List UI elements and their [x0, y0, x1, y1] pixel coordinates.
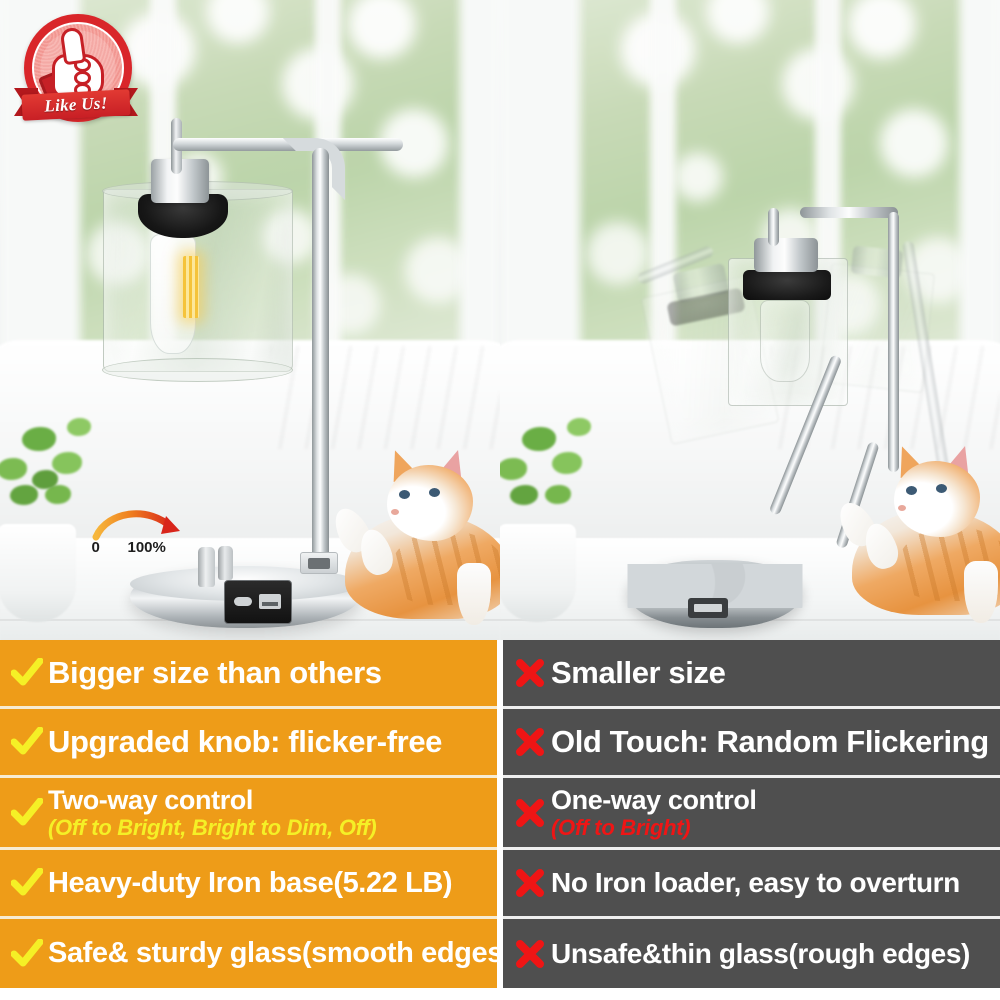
check-icon	[6, 939, 48, 969]
cons-text: Unsafe&thin glass(rough edges)	[551, 939, 1000, 968]
kitten-eye	[936, 484, 947, 493]
pros-main-text: Bigger size than others	[48, 655, 382, 690]
cross-icon	[509, 798, 551, 828]
pros-text: Two-way control (Off to Bright, Bright t…	[48, 786, 497, 838]
pros-row: Safe& sturdy glass(smooth edges)	[0, 919, 497, 988]
kitten	[345, 389, 500, 619]
pros-main-text: Upgraded knob: flicker-free	[48, 724, 442, 759]
dimmer-min-label: 0	[92, 539, 100, 556]
cons-row: Unsafe&thin glass(rough edges)	[503, 919, 1000, 988]
pros-text: Bigger size than others	[48, 657, 497, 690]
cons-sub-text: (Off to Bright)	[551, 816, 1000, 839]
cons-text: Old Touch: Random Flickering	[551, 726, 1000, 759]
pros-row: Heavy-duty Iron base(5.22 LB)	[0, 850, 497, 919]
cons-text: One-way control (Off to Bright)	[551, 786, 1000, 838]
pros-row: Upgraded knob: flicker-free	[0, 709, 497, 778]
kitten-eye	[429, 488, 440, 497]
cons-row: One-way control (Off to Bright)	[503, 778, 1000, 850]
pros-main-text: Heavy-duty Iron base(5.22 LB)	[48, 867, 452, 899]
lamp-arm-top	[800, 207, 898, 218]
kitten-head	[894, 461, 980, 537]
dimmer-knob-secondary[interactable]	[218, 546, 233, 580]
kitten-nose	[898, 505, 906, 511]
shade-stem	[768, 208, 779, 246]
usb-a-port-icon	[259, 594, 281, 609]
usb-c-port-icon	[234, 597, 252, 606]
cons-main-text: No Iron loader, easy to overturn	[551, 867, 960, 898]
pros-text: Heavy-duty Iron base(5.22 LB)	[48, 868, 497, 898]
check-icon	[6, 727, 48, 757]
check-icon	[6, 868, 48, 898]
kitten	[852, 385, 1000, 615]
cons-row: Old Touch: Random Flickering	[503, 709, 1000, 778]
pros-row: Bigger size than others	[0, 640, 497, 709]
pros-sub-text: (Off to Bright, Bright to Dim, Off)	[48, 816, 497, 839]
cons-column: Smaller size Old Touch: Random Flickerin…	[503, 640, 1000, 988]
pros-text: Safe& sturdy glass(smooth edges)	[48, 938, 497, 968]
cons-main-text: One-way control	[551, 785, 757, 815]
bulb-socket	[743, 270, 831, 300]
pros-main-text: Two-way control	[48, 785, 253, 815]
cons-main-text: Unsafe&thin glass(rough edges)	[551, 938, 970, 969]
cross-icon	[509, 939, 551, 969]
outlet-switch[interactable]	[300, 552, 338, 574]
cons-row: No Iron loader, easy to overturn	[503, 850, 1000, 919]
check-icon	[6, 658, 48, 688]
kitten-eye	[906, 486, 917, 495]
check-icon	[6, 798, 48, 828]
cross-icon	[509, 727, 551, 757]
dimmer-arc-icon	[88, 504, 208, 542]
kitten-head	[387, 465, 473, 541]
product-comparison-image: 0 100%	[0, 0, 1000, 1000]
bulb-glass	[760, 300, 810, 382]
bottom-white-strip	[0, 992, 1000, 1000]
cross-icon	[509, 658, 551, 688]
pros-main-text: Safe& sturdy glass(smooth edges)	[48, 937, 512, 969]
kitten-hind-leg	[457, 563, 491, 625]
dimmer-annotation: 0 100%	[88, 504, 208, 556]
pros-text: Upgraded knob: flicker-free	[48, 726, 497, 759]
cons-row: Smaller size	[503, 640, 1000, 709]
cons-text: Smaller size	[551, 657, 1000, 690]
pros-row: Two-way control (Off to Bright, Bright t…	[0, 778, 497, 850]
lamp-post	[312, 148, 329, 593]
thumb-up-finger	[60, 27, 87, 66]
right-product-photo	[500, 0, 1000, 641]
like-us-badge[interactable]: Like Us!	[14, 12, 138, 138]
usb-port-panel	[224, 580, 292, 624]
cons-main-text: Smaller size	[551, 655, 725, 690]
cons-text: No Iron loader, easy to overturn	[551, 868, 1000, 897]
photo-area: 0 100%	[0, 0, 1000, 641]
cons-main-text: Old Touch: Random Flickering	[551, 724, 989, 759]
bulb-filament	[183, 256, 199, 318]
badge-label: Like Us!	[21, 89, 130, 121]
kitten-hind-leg	[964, 561, 998, 623]
kitten-eye	[399, 490, 410, 499]
comparison-table: Bigger size than others Upgraded knob: f…	[0, 640, 1000, 992]
cross-icon	[509, 868, 551, 898]
usb-port-panel	[688, 598, 728, 618]
pros-column: Bigger size than others Upgraded knob: f…	[0, 640, 497, 988]
shade-collar	[754, 238, 818, 272]
kitten-nose	[391, 509, 399, 515]
dimmer-max-label: 100%	[128, 539, 166, 556]
badge-ribbon: Like Us!	[14, 86, 138, 124]
